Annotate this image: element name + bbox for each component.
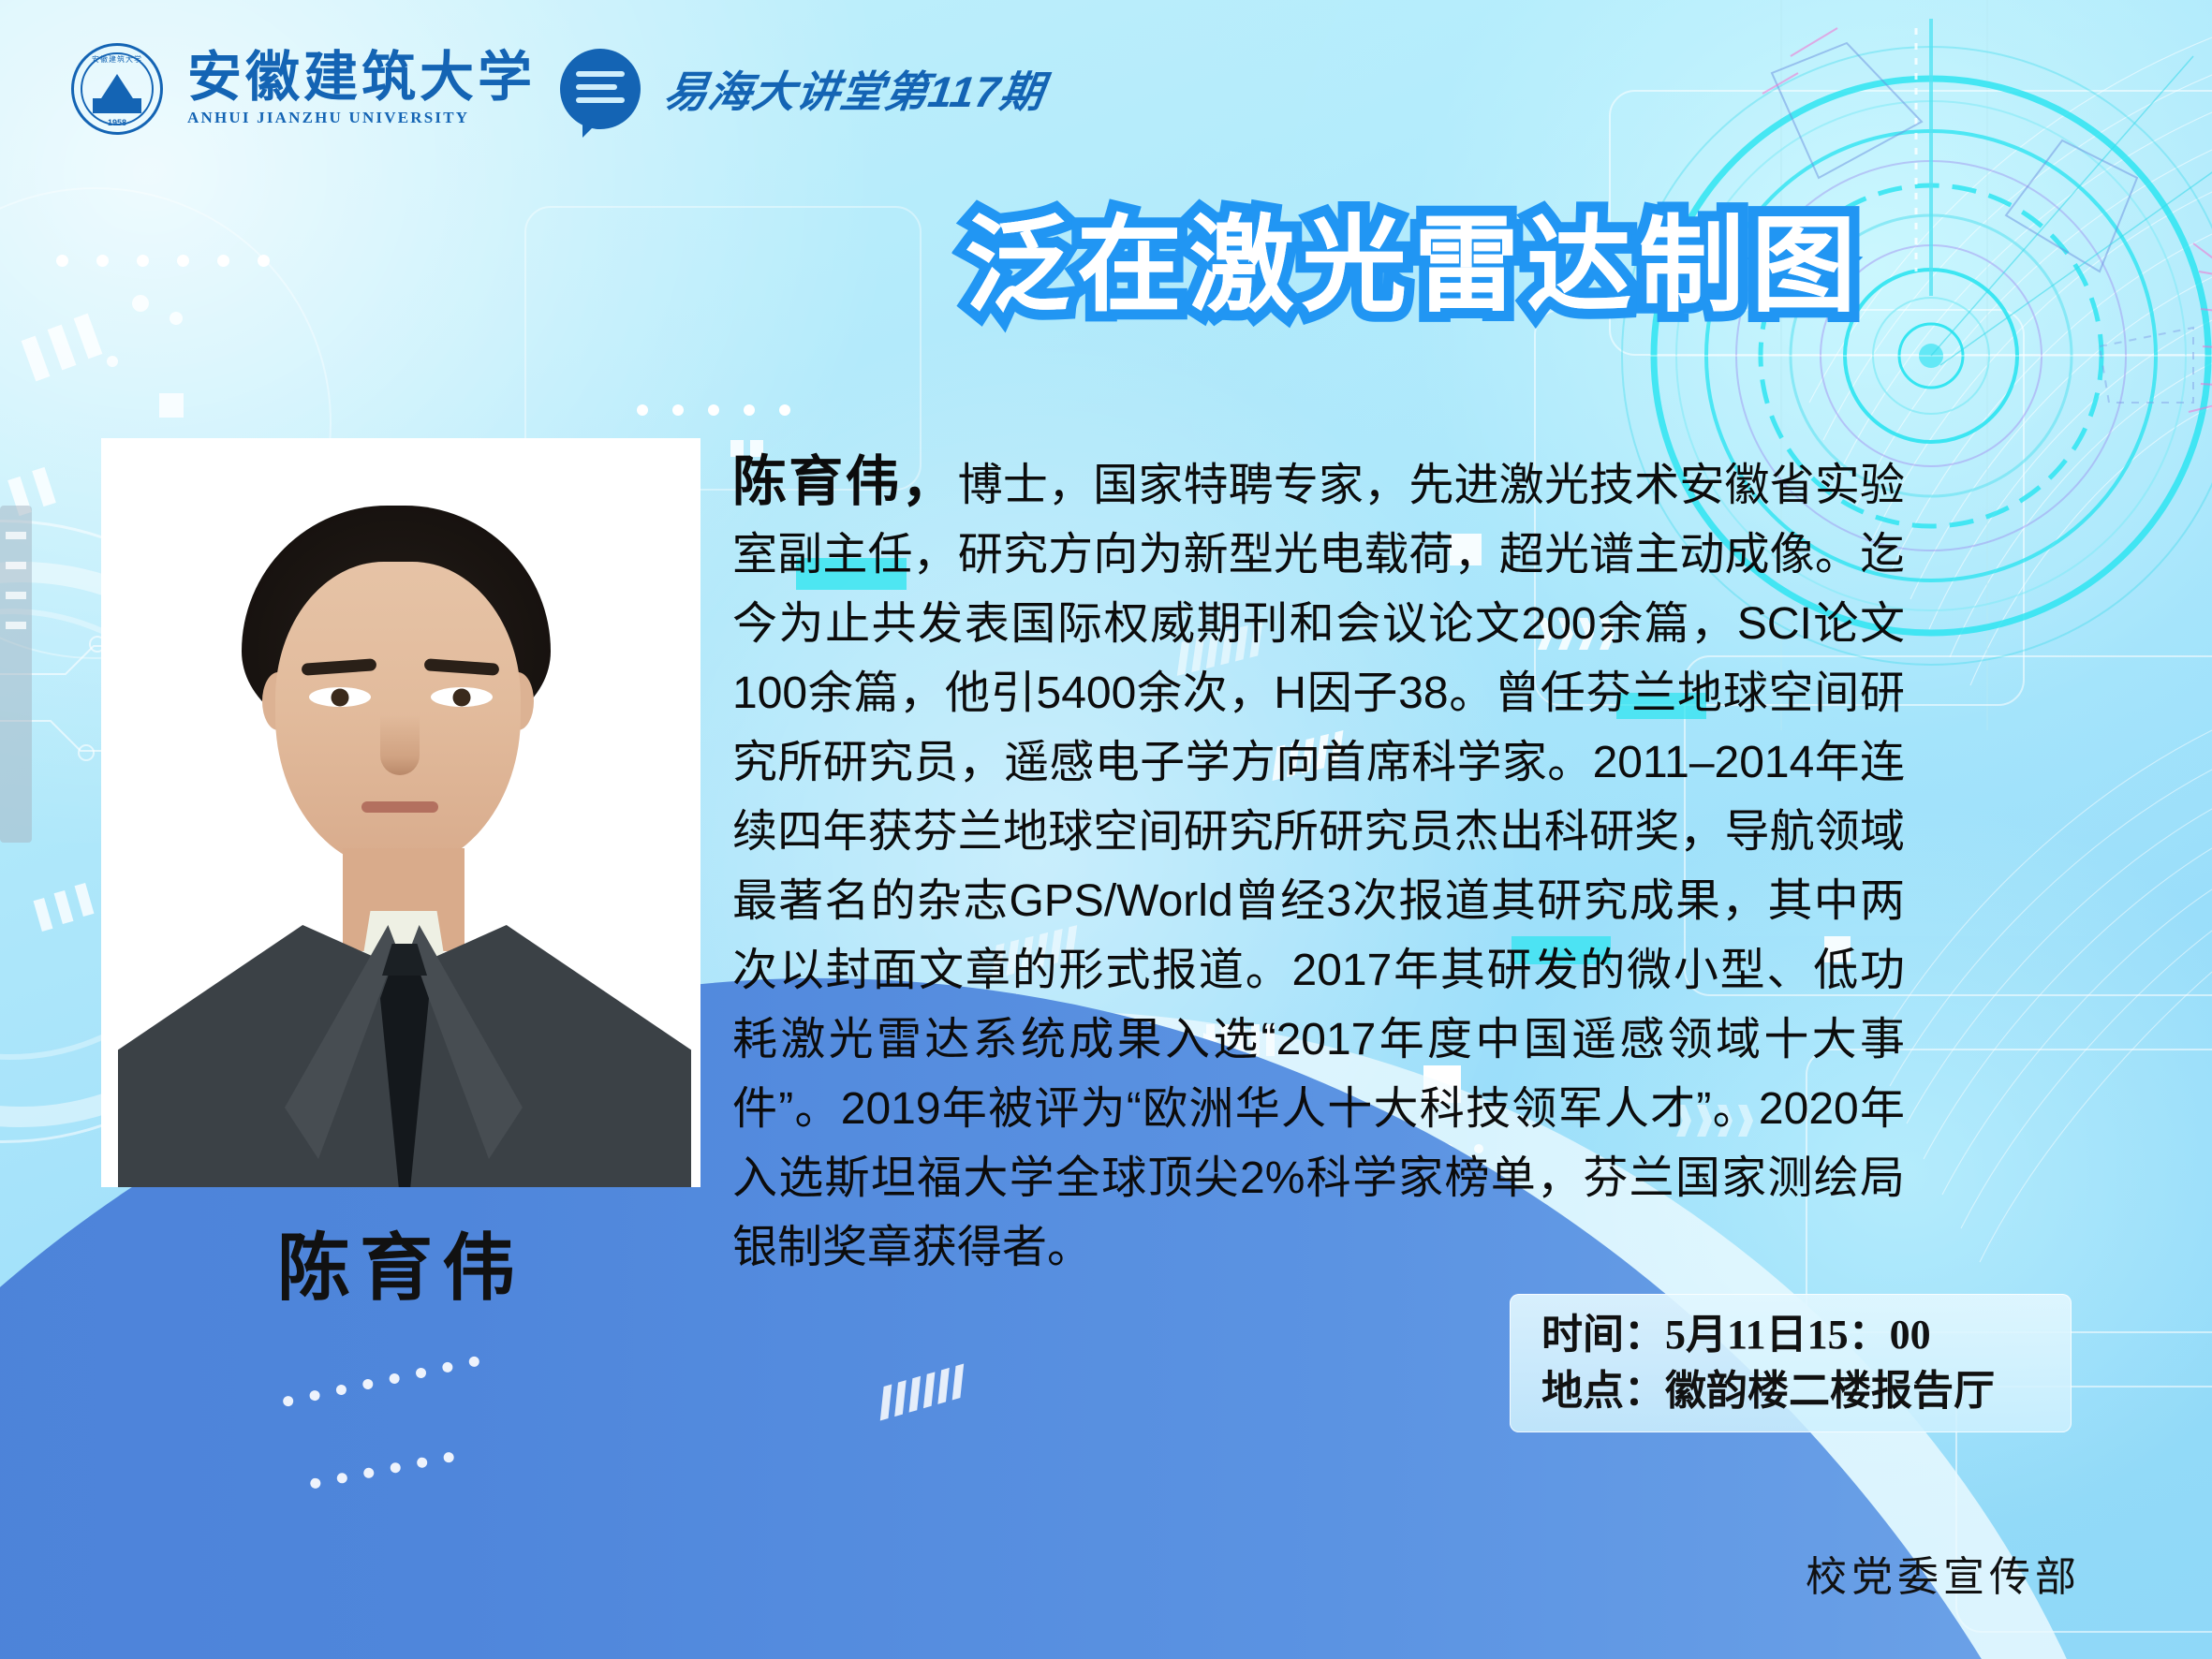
lecture-poster: 安徽建筑大学 1958 安徽建筑大学 ANHUI JIANZHU UNIVERS… xyxy=(0,0,2212,1659)
university-name-cn: 安徽建筑大学 xyxy=(187,51,536,105)
event-place-label: 地点： xyxy=(1541,1368,1665,1414)
university-seal-icon: 安徽建筑大学 1958 xyxy=(71,43,163,135)
event-time-value: 5月11日15：00 xyxy=(1665,1312,1931,1358)
speaker-bio-lead: 陈育伟， xyxy=(732,451,958,512)
bg-wave-dots-2 xyxy=(309,1451,454,1490)
speaker-photo xyxy=(101,438,700,1187)
bg-hatch-wave xyxy=(877,1365,966,1418)
event-place-value: 徽韵楼二楼报告厅 xyxy=(1665,1368,1995,1414)
book-speech-bubble-icon xyxy=(560,49,641,129)
event-place-row: 地点：徽韵楼二楼报告厅 xyxy=(1541,1363,2040,1419)
lecture-series-label: 易海大讲堂第117期 xyxy=(660,58,1049,120)
speaker-name: 陈育伟 xyxy=(277,1210,524,1314)
page-title: 泛在激光雷达制图 xyxy=(965,213,1864,318)
poster-header: 安徽建筑大学 1958 安徽建筑大学 ANHUI JIANZHU UNIVERS… xyxy=(71,43,1044,135)
bg-dot-trail-left xyxy=(56,255,270,267)
university-wordmark: 安徽建筑大学 ANHUI JIANZHU UNIVERSITY xyxy=(187,51,536,127)
speaker-bio-text: 博士，国家特聘专家，先进激光技术安徽省实验室副主任，研究方向为新型光电载荷，超光… xyxy=(732,461,1905,1272)
poster-footer-credit: 校党委宣传部 xyxy=(1806,1543,2081,1603)
university-name-en: ANHUI JIANZHU UNIVERSITY xyxy=(187,109,536,127)
seal-arc-top: 安徽建筑大学 xyxy=(74,54,160,65)
event-time-row: 时间：5月11日15：00 xyxy=(1541,1307,2040,1363)
poster-title-wrap: 泛在激光雷达制图 泛在激光雷达制图 xyxy=(965,213,1864,318)
speaker-bio: 陈育伟，博士，国家特聘专家，先进激光技术安徽省实验室副主任，研究方向为新型光电载… xyxy=(732,448,1905,1283)
event-info-box: 时间：5月11日15：00 地点：徽韵楼二楼报告厅 xyxy=(1510,1294,2072,1432)
bg-wave-dots-1 xyxy=(282,1356,480,1407)
bg-dot-trail-top xyxy=(637,404,790,416)
event-time-label: 时间： xyxy=(1541,1312,1665,1358)
seal-year: 1958 xyxy=(74,118,160,127)
